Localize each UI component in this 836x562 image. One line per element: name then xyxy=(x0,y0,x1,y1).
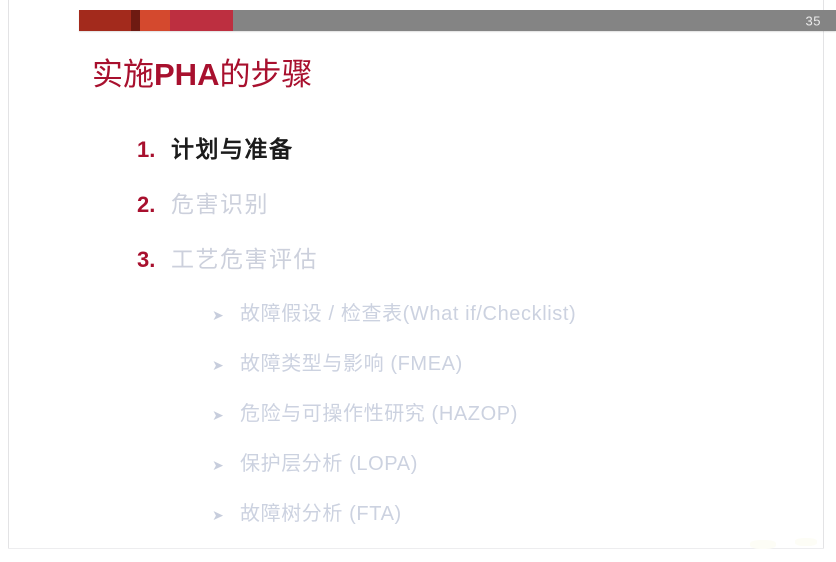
header-color-band: 35 xyxy=(79,10,836,31)
list-item: 1. 计划与准备 xyxy=(137,130,797,185)
background-artifact xyxy=(795,538,817,546)
list-item-label: 故障假设 / 检查表(What if/Checklist) xyxy=(240,297,576,326)
list-item-label: 危险与可操作性研究 (HAZOP) xyxy=(240,397,518,426)
list-item-number: 1. xyxy=(137,137,171,163)
slide-frame-right-border xyxy=(823,0,824,549)
background-artifact xyxy=(750,540,776,549)
list-item-label: 计划与准备 xyxy=(171,130,294,164)
list-item: 3. 工艺危害评估 xyxy=(137,240,797,295)
list-item: ➤ 故障类型与影响 (FMEA) xyxy=(212,347,812,397)
list-item: ➤ 故障树分析 (FTA) xyxy=(212,497,812,547)
band-segment-orange-red xyxy=(140,10,170,31)
list-item-label: 故障树分析 (FTA) xyxy=(240,497,402,526)
band-segment-dark-red xyxy=(79,10,131,31)
list-item-number: 2. xyxy=(137,192,171,218)
slide-canvas: 35 实施PHA的步骤 1. 计划与准备 2. 危害识别 3. 工艺危害评估 ➤… xyxy=(0,0,836,562)
arrow-bullet-icon: ➤ xyxy=(212,403,240,427)
arrow-bullet-icon: ➤ xyxy=(212,303,240,327)
band-segment-gray: 35 xyxy=(233,10,836,31)
page-title-han-prefix: 实施 xyxy=(92,57,154,92)
list-item: ➤ 危险与可操作性研究 (HAZOP) xyxy=(212,397,812,447)
arrow-bullet-icon: ➤ xyxy=(212,453,240,477)
page-number: 35 xyxy=(806,14,821,27)
slide-frame-bottom-border xyxy=(8,548,824,549)
band-segment-maroon xyxy=(131,10,140,31)
list-item-label: 危害识别 xyxy=(171,185,269,219)
list-item-number: 3. xyxy=(137,247,171,273)
list-item: 2. 危害识别 xyxy=(137,185,797,240)
list-item-label: 故障类型与影响 (FMEA) xyxy=(240,347,463,376)
list-item-label: 保护层分析 (LOPA) xyxy=(240,447,418,476)
page-title: 实施PHA的步骤 xyxy=(92,55,312,95)
page-title-han-suffix: 的步骤 xyxy=(219,57,312,92)
band-segment-crimson xyxy=(170,10,233,31)
list-item: ➤ 保护层分析 (LOPA) xyxy=(212,447,812,497)
outline-level1-list: 1. 计划与准备 2. 危害识别 3. 工艺危害评估 xyxy=(137,130,797,295)
outline-level2-list: ➤ 故障假设 / 检查表(What if/Checklist) ➤ 故障类型与影… xyxy=(212,297,812,547)
page-title-latin: PHA xyxy=(154,57,219,92)
list-item: ➤ 故障假设 / 检查表(What if/Checklist) xyxy=(212,297,812,347)
arrow-bullet-icon: ➤ xyxy=(212,503,240,527)
list-item-label: 工艺危害评估 xyxy=(171,240,318,274)
arrow-bullet-icon: ➤ xyxy=(212,353,240,377)
slide-frame-left-border xyxy=(8,0,9,549)
